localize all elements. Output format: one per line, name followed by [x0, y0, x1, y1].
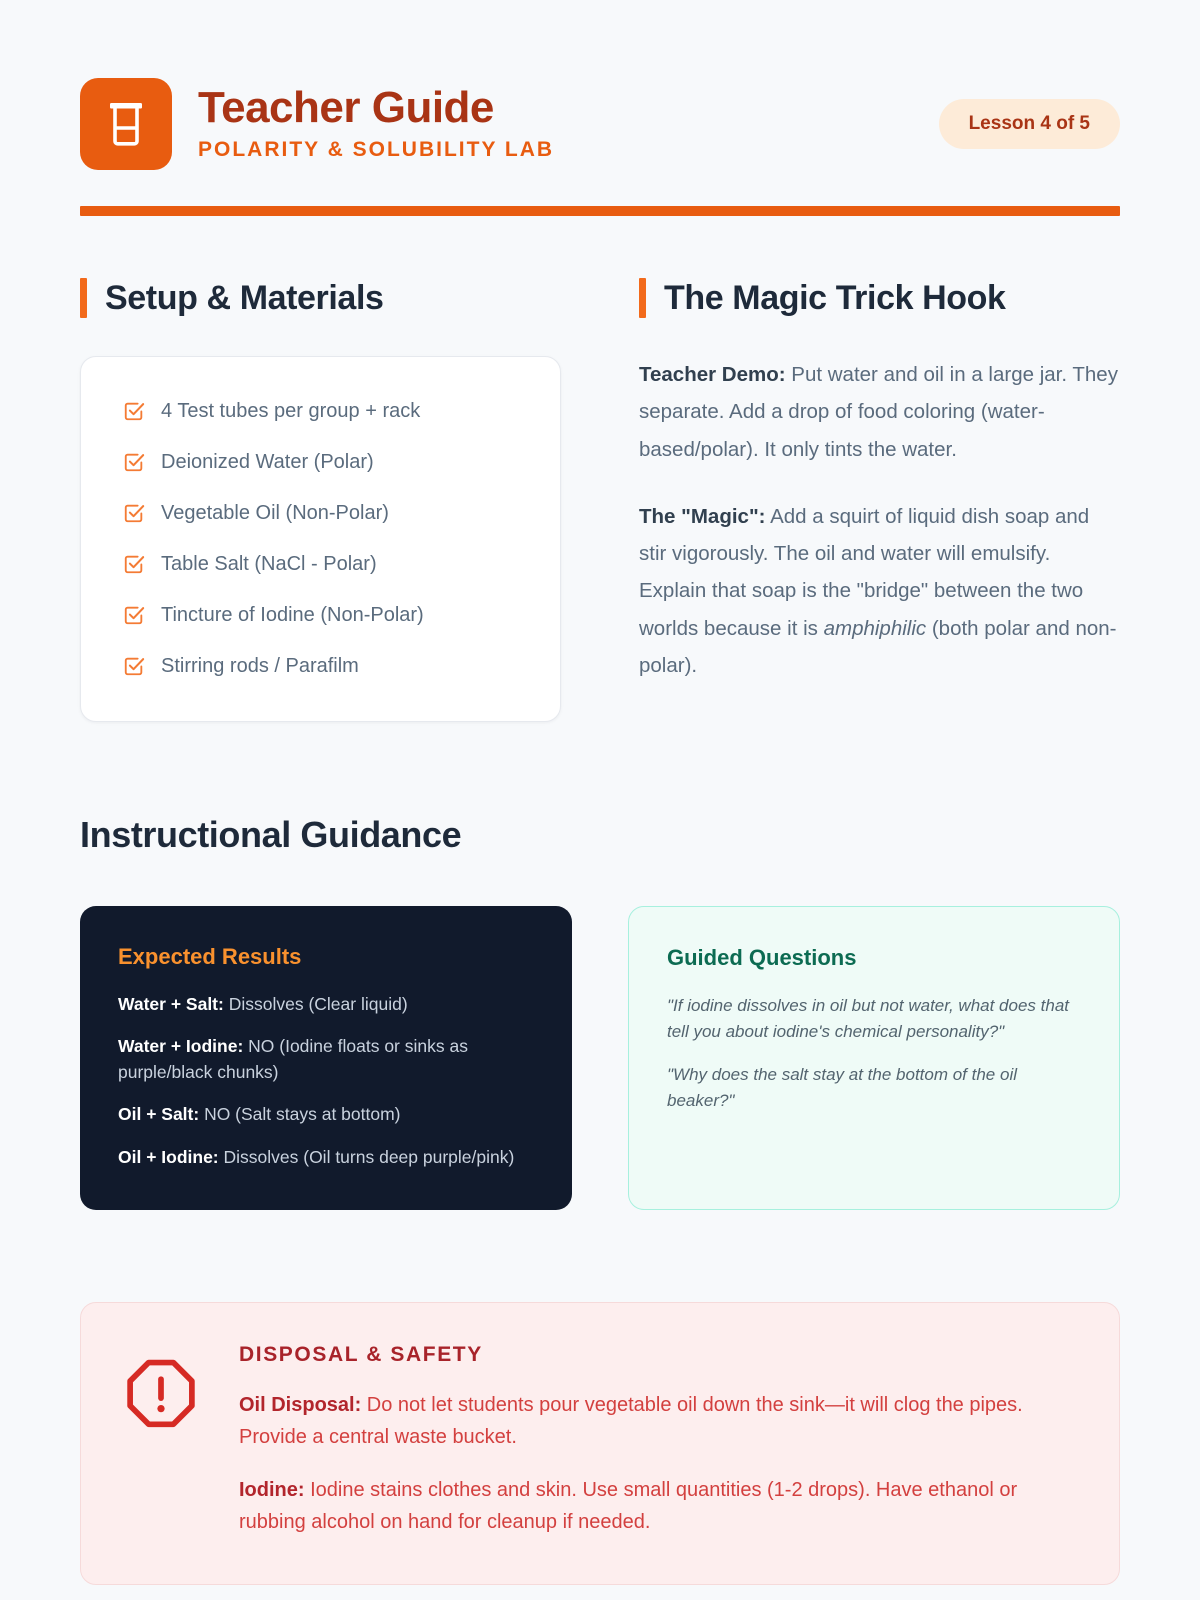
guided-question: "Why does the salt stay at the bottom of…	[667, 1062, 1081, 1113]
hook-paragraph-demo: Teacher Demo: Put water and oil in a lar…	[639, 356, 1120, 468]
hook-lead-magic: The "Magic":	[639, 505, 766, 528]
list-item-label: Stirring rods / Parafilm	[161, 653, 359, 679]
header-titles: Teacher Guide POLARITY & SOLUBILITY LAB	[198, 84, 554, 164]
safety-title: DISPOSAL & SAFETY	[239, 1343, 1073, 1367]
hook-lead-demo: Teacher Demo:	[639, 363, 786, 386]
expected-result-row: Water + Salt: Dissolves (Clear liquid)	[118, 992, 534, 1017]
list-item-label: Deionized Water (Polar)	[161, 449, 374, 475]
checkbox-checked-icon	[123, 451, 145, 473]
safety-note-lead: Oil Disposal:	[239, 1394, 361, 1416]
expected-result-row: Water + Iodine: NO (Iodine floats or sin…	[118, 1034, 534, 1085]
checkbox-checked-icon	[123, 553, 145, 575]
expected-result-row: Oil + Salt: NO (Salt stays at bottom)	[118, 1102, 534, 1127]
list-item-label: Vegetable Oil (Non-Polar)	[161, 500, 389, 526]
top-sections: Setup & Materials 4 Test tubes per group…	[80, 278, 1120, 722]
safety-card: DISPOSAL & SAFETY Oil Disposal: Do not l…	[80, 1302, 1120, 1586]
guidance-heading: Instructional Guidance	[80, 814, 1120, 856]
list-item[interactable]: 4 Test tubes per group + rack	[111, 390, 530, 432]
checkbox-checked-icon	[123, 400, 145, 422]
safety-body: DISPOSAL & SAFETY Oil Disposal: Do not l…	[239, 1343, 1073, 1539]
hook-heading-label: The Magic Trick Hook	[664, 279, 1006, 318]
safety-note-lead: Iodine:	[239, 1479, 305, 1501]
lesson-badge: Lesson 4 of 5	[939, 99, 1120, 149]
accent-tick-icon	[80, 278, 87, 318]
page-title: Teacher Guide	[198, 84, 554, 132]
list-item-label: Table Salt (NaCl - Polar)	[161, 551, 377, 577]
page-header: Teacher Guide POLARITY & SOLUBILITY LAB …	[80, 0, 1120, 170]
list-item[interactable]: Deionized Water (Polar)	[111, 441, 530, 483]
hook-body: Teacher Demo: Put water and oil in a lar…	[639, 356, 1120, 684]
safety-note: Iodine: Iodine stains clothes and skin. …	[239, 1474, 1073, 1539]
list-item[interactable]: Vegetable Oil (Non-Polar)	[111, 492, 530, 534]
list-item[interactable]: Table Salt (NaCl - Polar)	[111, 543, 530, 585]
expected-result-lead: Oil + Salt:	[118, 1104, 199, 1124]
list-item[interactable]: Stirring rods / Parafilm	[111, 645, 530, 687]
expected-result-row: Oil + Iodine: Dissolves (Oil turns deep …	[118, 1145, 534, 1170]
hook-column: The Magic Trick Hook Teacher Demo: Put w…	[639, 278, 1120, 722]
guided-question: "If iodine dissolves in oil but not wate…	[667, 993, 1081, 1044]
brand-block: Teacher Guide POLARITY & SOLUBILITY LAB	[80, 78, 554, 170]
setup-heading-label: Setup & Materials	[105, 279, 384, 318]
checkbox-checked-icon	[123, 655, 145, 677]
hook-emphasis-amphiphilic: amphiphilic	[824, 617, 927, 640]
safety-note: Oil Disposal: Do not let students pour v…	[239, 1389, 1073, 1454]
guided-questions-title: Guided Questions	[667, 945, 1081, 971]
setup-column: Setup & Materials 4 Test tubes per group…	[80, 278, 561, 722]
checkbox-checked-icon	[123, 604, 145, 626]
beaker-icon	[106, 101, 146, 147]
expected-result-body: Dissolves (Oil turns deep purple/pink)	[219, 1147, 515, 1167]
list-item-label: 4 Test tubes per group + rack	[161, 398, 420, 424]
list-item-label: Tincture of Iodine (Non-Polar)	[161, 602, 424, 628]
teacher-guide-page: Teacher Guide POLARITY & SOLUBILITY LAB …	[0, 0, 1200, 1600]
expected-results-column: Expected Results Water + Salt: Dissolves…	[80, 906, 572, 1210]
guided-questions-card: Guided Questions "If iodine dissolves in…	[628, 906, 1120, 1210]
setup-heading: Setup & Materials	[80, 278, 561, 318]
guided-questions-column: Guided Questions "If iodine dissolves in…	[628, 906, 1120, 1210]
list-item[interactable]: Tincture of Iodine (Non-Polar)	[111, 594, 530, 636]
materials-card: 4 Test tubes per group + rack Deionized …	[80, 356, 561, 722]
accent-tick-icon	[639, 278, 646, 318]
expected-result-lead: Water + Salt:	[118, 994, 224, 1014]
expected-result-lead: Oil + Iodine:	[118, 1147, 219, 1167]
page-subtitle: POLARITY & SOLUBILITY LAB	[198, 138, 554, 162]
header-accent-rule	[80, 206, 1120, 216]
expected-results-card: Expected Results Water + Salt: Dissolves…	[80, 906, 572, 1210]
logo-badge	[80, 78, 172, 170]
hook-heading: The Magic Trick Hook	[639, 278, 1120, 318]
expected-results-title: Expected Results	[118, 944, 534, 970]
checkbox-checked-icon	[123, 502, 145, 524]
alert-octagon-icon	[123, 1357, 199, 1438]
expected-result-lead: Water + Iodine:	[118, 1036, 243, 1056]
guidance-sections: Expected Results Water + Salt: Dissolves…	[80, 906, 1120, 1210]
hook-paragraph-magic: The "Magic": Add a squirt of liquid dish…	[639, 498, 1120, 684]
safety-note-body: Iodine stains clothes and skin. Use smal…	[239, 1479, 1017, 1533]
expected-result-body: NO (Salt stays at bottom)	[199, 1104, 400, 1124]
expected-result-body: Dissolves (Clear liquid)	[224, 994, 408, 1014]
